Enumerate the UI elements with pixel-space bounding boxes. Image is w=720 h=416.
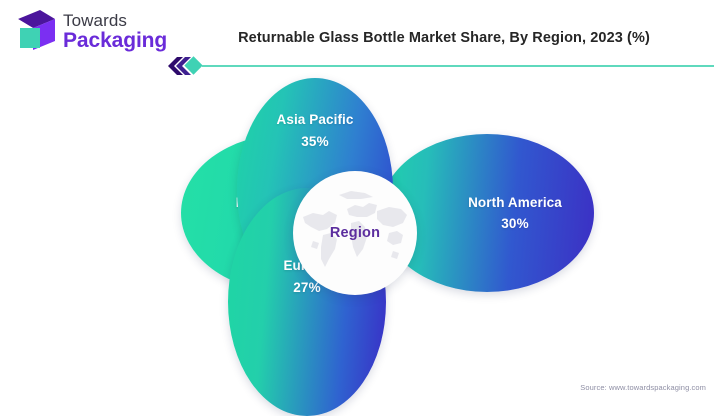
divider-line — [202, 65, 714, 67]
cube-logo-icon — [14, 8, 56, 53]
header-divider — [166, 56, 714, 76]
brand-logo: Towards Packaging — [14, 8, 167, 53]
diagram-center-hub: Region — [293, 171, 417, 295]
center-label: Region — [330, 225, 380, 241]
region-value: 35% — [301, 134, 329, 150]
brand-name-line1: Towards — [63, 12, 167, 29]
region-value: 30% — [501, 216, 529, 232]
source-attribution: Source: www.towardspackaging.com — [580, 383, 706, 392]
brand-name-line2: Packaging — [63, 30, 167, 51]
region-share-diagram: Asia Pacific 35% North America 30% Europ… — [180, 76, 540, 394]
page-title: Returnable Glass Bottle Market Share, By… — [180, 30, 708, 46]
region-label: North America — [468, 195, 562, 211]
region-label: Asia Pacific — [277, 112, 354, 128]
